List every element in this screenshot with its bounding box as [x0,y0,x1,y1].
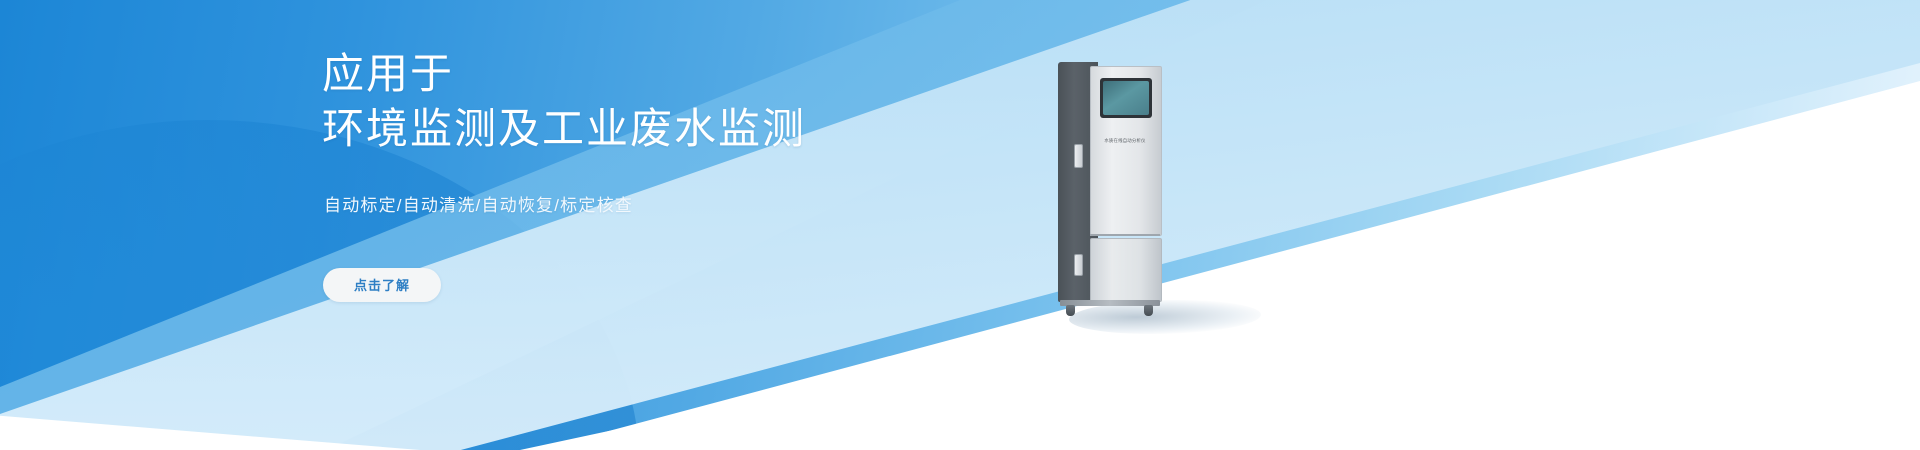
device-display-screen [1103,81,1149,115]
hero-banner: 应用于 环境监测及工业废水监测 自动标定/自动清洗/自动恢复/标定核查 点击了解… [0,0,1920,450]
learn-more-button[interactable]: 点击了解 [323,268,441,302]
device-caster-left [1066,305,1075,316]
device-handle-bottom [1074,254,1083,276]
headline-line-2: 环境监测及工业废水监测 [322,105,806,152]
banner-content: 应用于 环境监测及工业废水监测 自动标定/自动清洗/自动恢复/标定核查 点击了解 [322,46,942,302]
headline-line-1: 应用于 [322,50,454,97]
banner-headline: 应用于 环境监测及工业废水监测 [322,46,942,157]
device-handle-top [1074,144,1083,168]
device-lower-cabinet [1090,238,1162,302]
water-quality-analyzer-device: 水质在线自动分析仪 [1058,62,1176,314]
device-label: 水质在线自动分析仪 [1092,138,1158,144]
device-screen-bezel [1100,78,1152,118]
device-seam [1090,234,1160,236]
device-caster-right [1144,305,1153,316]
banner-subtitle: 自动标定/自动清洗/自动恢复/标定核查 [324,191,942,216]
